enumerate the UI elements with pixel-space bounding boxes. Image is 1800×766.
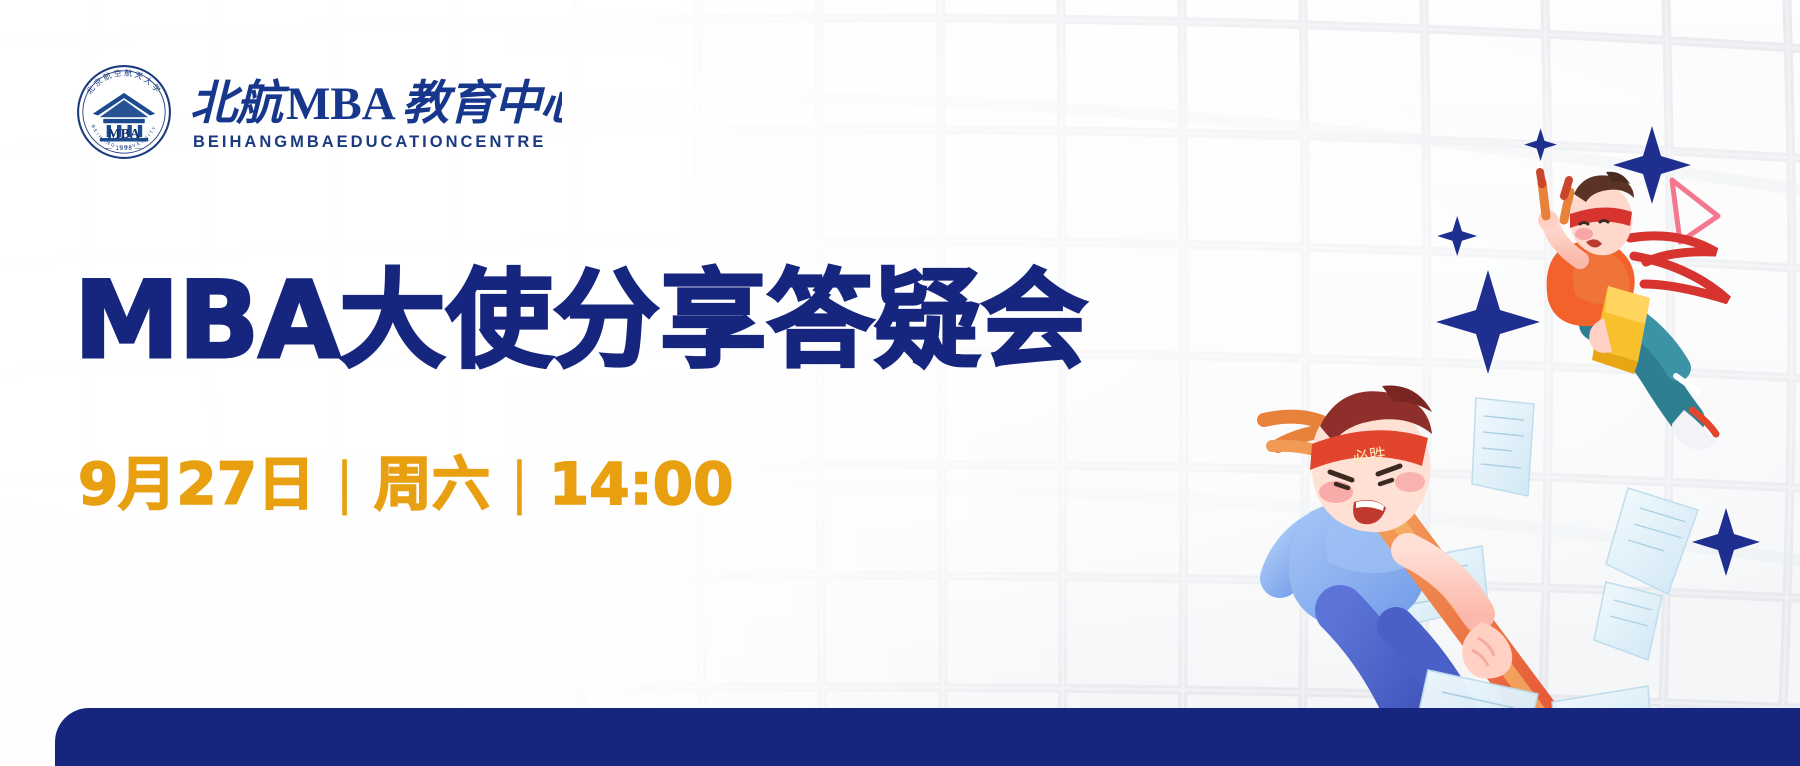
schedule-separator-1: |: [335, 456, 354, 512]
running-student-head: 必胜: [1310, 386, 1432, 533]
paper-sheet: [1594, 582, 1662, 660]
buaa-seal-icon: 北京航空航天大学 BEIHANG UNIVERSITY: [72, 60, 176, 164]
event-date: 9月27日: [78, 455, 315, 513]
svg-text:MBA: MBA: [108, 126, 141, 141]
flying-student-figure: [1538, 172, 1728, 450]
sparkle-icon: [1613, 126, 1691, 204]
triangle-outline-icon: [1672, 180, 1718, 242]
students-illustration: 必胜: [1160, 110, 1800, 766]
poster-canvas: 北京航空航天大学 BEIHANG UNIVERSITY: [0, 0, 1800, 766]
schedule-separator-2: |: [510, 456, 529, 512]
page-title-latin: MBA: [74, 259, 339, 382]
event-weekday: 周六: [374, 455, 490, 513]
sparkle-icon: [1437, 216, 1477, 256]
paper-sheet: [1472, 398, 1534, 496]
brand-name-en: BEIHANGMBAEDUCATIONCENTRE: [193, 133, 562, 152]
sparkle-icon: [1436, 270, 1540, 374]
sparkle-icon: [1524, 128, 1557, 161]
svg-text:北航: 北航: [190, 76, 290, 131]
sparkle-icon: [1692, 508, 1760, 576]
svg-text:— 1998 —: — 1998 —: [106, 145, 143, 152]
paper-sheet: [1606, 488, 1698, 594]
bottom-accent-bar: [55, 708, 1800, 766]
event-time: 14:00: [549, 455, 734, 513]
svg-text:MBA: MBA: [286, 78, 396, 130]
svg-text:教育中心: 教育中心: [402, 76, 562, 131]
page-title-chinese: 大使分享答疑会: [339, 259, 1088, 382]
flying-student-head: [1570, 172, 1634, 256]
page-title: MBA大使分享答疑会: [74, 268, 1088, 374]
brand-name-cn: 北航 MBA 教育中心: [190, 74, 562, 130]
event-schedule: 9月27日 | 周六 | 14:00: [78, 455, 733, 513]
brand-logo-lockup: 北京航空航天大学 BEIHANG UNIVERSITY: [72, 60, 562, 164]
